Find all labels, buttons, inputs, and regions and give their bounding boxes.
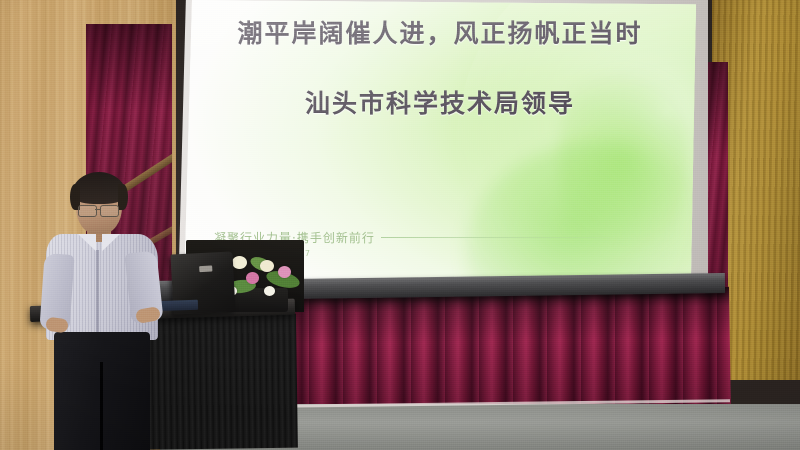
trouser-leg-separation <box>100 362 103 450</box>
shirt-button-placket <box>96 250 99 336</box>
laptop-logo <box>199 265 212 272</box>
flower-bloom-pink <box>278 266 291 278</box>
slide-title-line-2: 汕头市科学技术局领导 <box>184 84 696 120</box>
flower-bloom-white <box>264 286 275 296</box>
eyeglasses-bridge <box>95 209 101 210</box>
eyeglasses-lens-left <box>78 205 97 217</box>
speaker-trousers <box>54 332 150 450</box>
flower-bloom-cream <box>232 256 247 269</box>
flower-bloom-pink <box>246 272 259 284</box>
speaker-hair-side-right <box>118 184 128 210</box>
slide-footer-rule <box>381 237 614 238</box>
eyeglasses-lens-right <box>100 205 119 217</box>
photo-scene: 潮平岸阔催人进，风正扬帆正当时 汕头市科学技术局领导 凝聚行业力量·携手创新前行… <box>0 0 800 450</box>
slide-title-line-1: 潮平岸阔催人进，风正扬帆正当时 <box>184 14 696 50</box>
speaker-at-podium <box>40 172 168 450</box>
flower-bloom-cream <box>260 260 274 272</box>
